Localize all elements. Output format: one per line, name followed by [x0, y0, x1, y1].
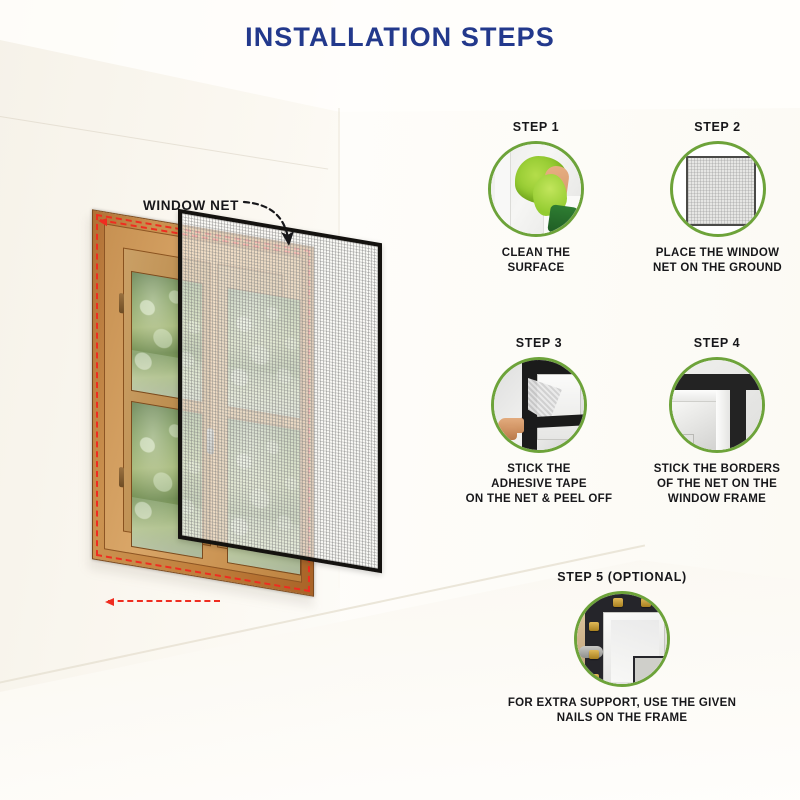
step-1-title: STEP 1 [466, 120, 606, 134]
step-2-image [670, 141, 766, 237]
step-4-caption-line-1: STICK THE BORDERS [654, 463, 781, 475]
step-3: STEP 3 STICK THE ADHESIVE TAPE ON THE NE… [464, 336, 614, 508]
step-3-title: STEP 3 [464, 336, 614, 350]
nail-icon [589, 622, 599, 631]
steps-panel: STEP 1 CLEAN THE SURFACE STEP 2 P [440, 0, 800, 800]
step-4-white-frame-vertical [716, 390, 730, 453]
nail-icon [613, 598, 623, 607]
step-5-caption-line-2: NAILS ON THE FRAME [557, 712, 688, 724]
hero-illustration: WINDOW NET [0, 0, 440, 800]
step-4: STEP 4 STICK THE BORDERS OF THE NET ON T… [638, 336, 796, 508]
thumb-icon [504, 426, 517, 440]
step-1: STEP 1 CLEAN THE SURFACE [466, 120, 606, 276]
step-4-title: STEP 4 [638, 336, 796, 350]
step-2: STEP 2 PLACE THE WINDOW NET ON THE GROUN… [640, 120, 795, 276]
step-4-frame-step [672, 434, 694, 453]
step-4-caption-line-3: WINDOW FRAME [668, 493, 766, 505]
step-3-caption-line-2: ADHESIVE TAPE [491, 478, 587, 490]
nail-icon [589, 674, 599, 683]
step-5-caption: FOR EXTRA SUPPORT, USE THE GIVEN NAILS O… [502, 696, 742, 726]
red-dashed-arrow-bottom-icon [108, 600, 220, 602]
step-5-caption-line-1: FOR EXTRA SUPPORT, USE THE GIVEN [508, 697, 736, 709]
step-2-caption-line-2: NET ON THE GROUND [653, 262, 782, 274]
step-4-caption-line-2: OF THE NET ON THE [657, 478, 777, 490]
step-5-title: STEP 5 (OPTIONAL) [502, 570, 742, 584]
step-4-caption: STICK THE BORDERS OF THE NET ON THE WIND… [638, 462, 796, 508]
infographic-page: INSTALLATION STEPS WINDOW NET [0, 0, 800, 800]
step-5-frame-corner [633, 656, 667, 687]
step-3-image [491, 357, 587, 453]
step-3-caption: STICK THE ADHESIVE TAPE ON THE NET & PEE… [464, 462, 614, 508]
step-2-caption-line-1: PLACE THE WINDOW [656, 247, 780, 259]
mesh-square-icon [686, 156, 756, 226]
step-1-image [488, 141, 584, 237]
window-net-callout-label: WINDOW NET [143, 198, 239, 213]
net-border-horizontal-icon [674, 374, 765, 390]
green-glove-cuff-icon [547, 204, 579, 236]
curved-dashed-arrow-icon [240, 196, 304, 252]
step-5-image [574, 591, 670, 687]
mesh-net-panel-icon [178, 209, 382, 574]
step-5: STEP 5 (OPTIONAL) FOR EXTRA SUPPORT, USE… [502, 570, 742, 726]
nail-icon [589, 650, 599, 659]
step-3-caption-line-1: STICK THE [507, 463, 570, 475]
step-2-title: STEP 2 [640, 120, 795, 134]
step-3-caption-line-3: ON THE NET & PEEL OFF [466, 493, 613, 505]
step-1-caption: CLEAN THE SURFACE [466, 246, 606, 276]
net-border-vertical-icon [730, 374, 746, 453]
step-3-black-frame-horizontal [522, 360, 587, 374]
step-1-wall-panel [495, 152, 511, 234]
step-2-caption: PLACE THE WINDOW NET ON THE GROUND [640, 246, 795, 276]
step-1-caption-line-2: SURFACE [507, 262, 564, 274]
step-1-caption-line-1: CLEAN THE [502, 247, 571, 259]
nail-icon [641, 598, 651, 607]
step-4-image [669, 357, 765, 453]
